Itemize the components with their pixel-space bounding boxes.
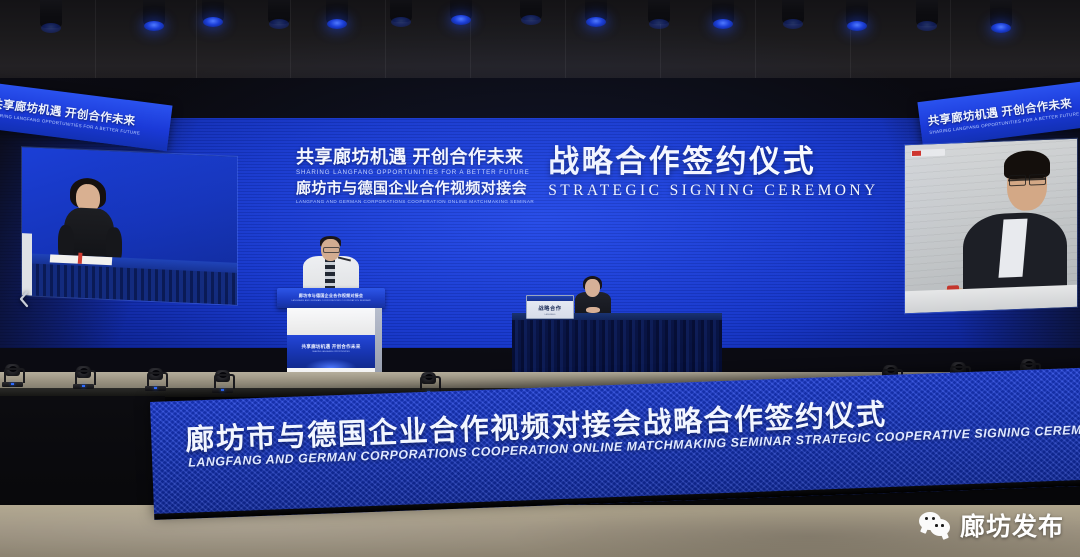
ceiling-light-icon	[520, 0, 542, 20]
ceiling-light-icon	[916, 0, 938, 26]
ceiling-light-icon	[143, 0, 165, 26]
stage-slogan-cn: 共享廊坊机遇 开创合作未来	[296, 148, 534, 167]
stage-subtitle-cn: 廊坊市与德国企业合作视频对接会	[296, 181, 534, 197]
ceiling-light-icon	[782, 0, 804, 24]
podium-top-text-en: LANGFANG AND GERMAN CORPORATIONS COOPERA…	[277, 300, 385, 302]
podium-speaker	[299, 236, 363, 292]
stage-title-en: STRATEGIC SIGNING CEREMONY	[548, 182, 878, 200]
ceiling-light-icon	[326, 0, 348, 24]
prev-slide-button[interactable]	[14, 288, 34, 310]
ceiling-light-icon	[390, 0, 412, 22]
stage-subtitle-en: LANGFANG AND GERMAN CORPORATIONS COOPERA…	[296, 199, 534, 204]
podium-top-text: 廊坊市与德国企业合作视频对接会	[277, 293, 385, 299]
podium-front-panel: 共享廊坊机遇 开创合作未来 SHARING LANGFANG OPPORTUNI…	[287, 335, 375, 368]
moving-head-light-icon	[73, 364, 94, 389]
podium-front-text-en: SHARING LANGFANG OPPORTUNITIES	[287, 351, 375, 353]
name-placard: 廊坊市与德国企业 战略合作 LANGFANG	[526, 295, 574, 319]
signing-table: 廊坊市与德国企业 战略合作 LANGFANG	[512, 313, 722, 381]
chevron-left-icon	[18, 290, 30, 308]
ceiling-light-icon	[40, 0, 62, 28]
right-feed-label-tab	[911, 149, 945, 157]
podium-top-panel: 廊坊市与德国企业合作视频对接会 LANGFANG AND GERMAN CORP…	[277, 288, 385, 308]
placard-footer: LANGFANG	[527, 314, 573, 316]
ceiling-light-icon	[450, 0, 472, 20]
ceiling-light-icon	[585, 0, 607, 22]
moving-head-light-icon	[212, 368, 233, 393]
stage-title-cn: 战略合作签约仪式	[548, 146, 878, 177]
stage-slogan-en: SHARING LANGFANG OPPORTUNITIES FOR A BET…	[296, 169, 534, 176]
placard-name: 战略合作	[527, 305, 573, 312]
ceiling-light-icon	[846, 0, 868, 26]
podium-front-text: 共享廊坊机遇 开创合作未来	[287, 344, 375, 350]
ceiling-light-icon	[990, 0, 1012, 28]
stage-title-right: 战略合作签约仪式 STRATEGIC SIGNING CEREMONY	[548, 146, 878, 200]
moving-head-light-icon	[145, 366, 166, 391]
speaker-glasses-icon	[323, 247, 340, 253]
moving-head-light-icon	[2, 362, 23, 387]
ceiling-light-icon	[202, 0, 224, 22]
stage-title-block: 共享廊坊机遇 开创合作未来 SHARING LANGFANG OPPORTUNI…	[296, 146, 856, 224]
left-video-feed	[22, 147, 237, 305]
ceiling-light-icon	[648, 0, 670, 24]
seated-signatory	[570, 277, 616, 317]
stage-title-left: 共享廊坊机遇 开创合作未来 SHARING LANGFANG OPPORTUNI…	[296, 146, 534, 204]
ceiling-light-icon	[712, 0, 734, 24]
right-video-feed	[905, 139, 1077, 314]
ceiling-light-icon	[268, 0, 290, 24]
screenshot-root: 共享廊坊机遇 开创合作未来 SHARING LANGFANG OPPORTUNI…	[0, 0, 1080, 557]
